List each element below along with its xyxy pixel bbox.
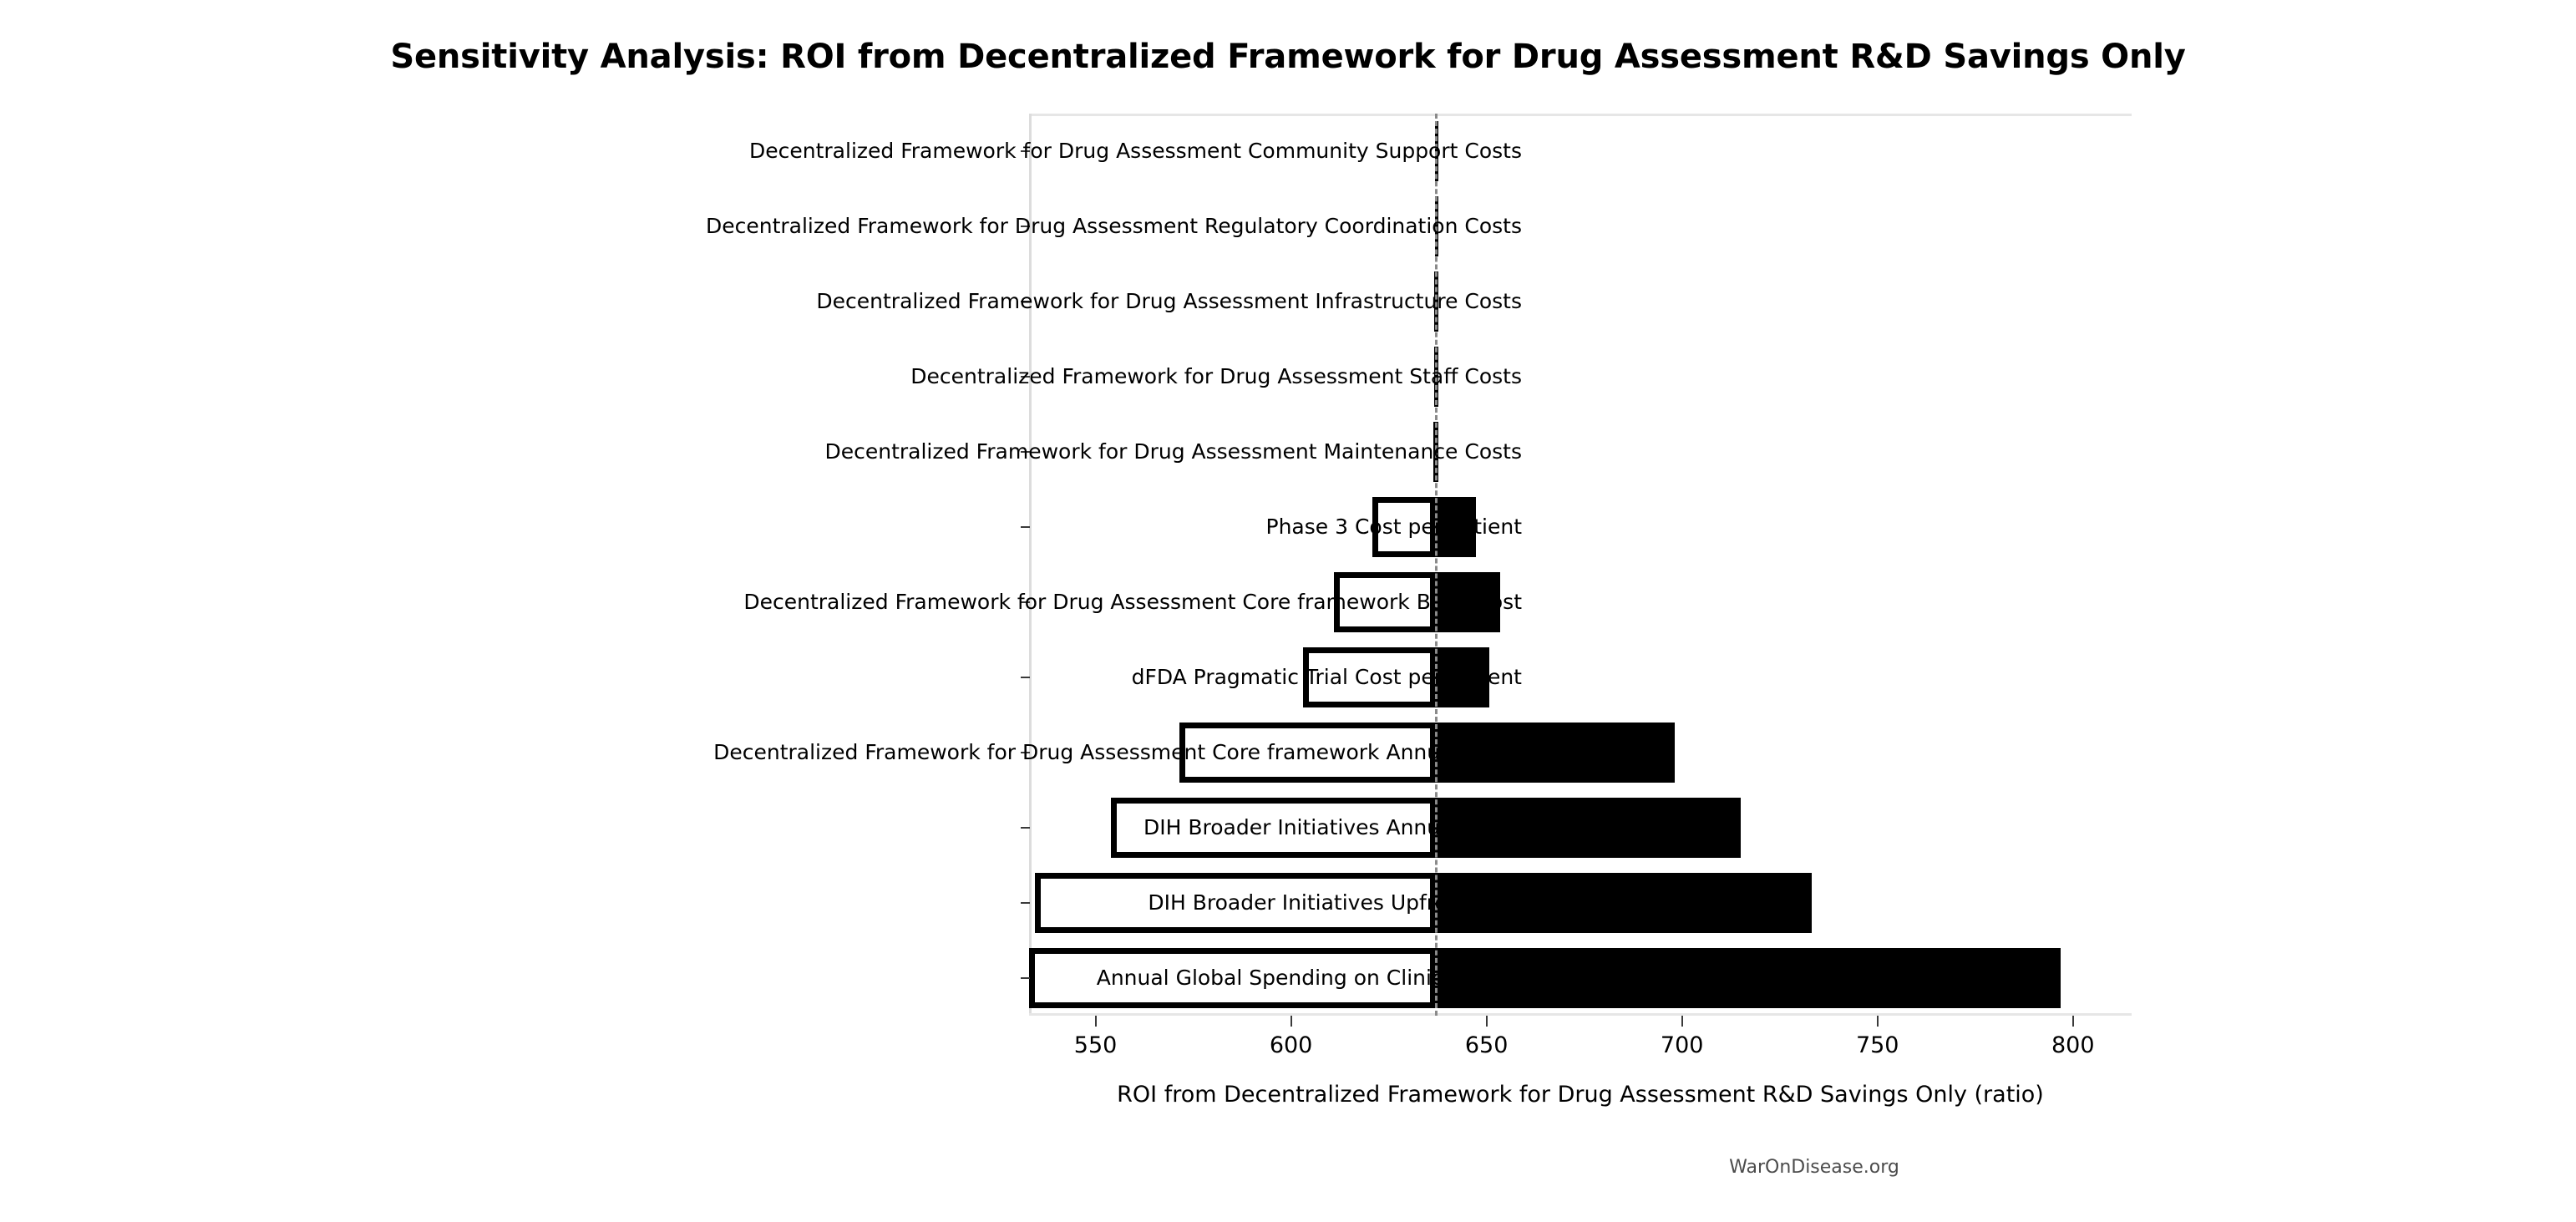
y-tick-mark <box>1021 827 1030 829</box>
x-tick-label: 750 <box>1828 1034 1928 1057</box>
plot-bottom-border <box>1029 1013 2132 1016</box>
y-tick-mark <box>1021 677 1030 678</box>
y-tick-label: Decentralized Framework for Drug Assessm… <box>749 140 1522 161</box>
chart-title: Sensitivity Analysis: ROI from Decentral… <box>0 38 2576 75</box>
x-axis-label: ROI from Decentralized Framework for Dru… <box>1029 1083 2132 1106</box>
x-tick-label: 650 <box>1437 1034 1537 1057</box>
y-tick-label: DIH Broader Initiatives Annual OPEX <box>1143 817 1522 838</box>
y-tick-label: DIH Broader Initiatives Upfront Cost <box>1148 892 1522 913</box>
x-tick-label: 800 <box>2023 1034 2123 1057</box>
x-tick-mark <box>2072 1016 2074 1027</box>
x-tick-mark <box>1095 1016 1097 1027</box>
y-tick-label: Decentralized Framework for Drug Assessm… <box>816 291 1522 312</box>
x-tick-mark <box>1877 1016 1879 1027</box>
plot-top-border <box>1029 114 2132 116</box>
y-tick-label: Decentralized Framework for Drug Assessm… <box>706 215 1522 236</box>
y-tick-label: Decentralized Framework for Drug Assessm… <box>743 591 1522 612</box>
y-tick-label: Decentralized Framework for Drug Assessm… <box>824 441 1522 462</box>
y-tick-mark <box>1021 902 1030 904</box>
y-tick-label: Decentralized Framework for Drug Assessm… <box>910 366 1522 387</box>
baseline-reference-line <box>1435 114 1438 1016</box>
y-tick-label: dFDA Pragmatic Trial Cost per Patient <box>1132 667 1522 687</box>
x-tick-mark <box>1291 1016 1292 1027</box>
x-tick-label: 550 <box>1046 1034 1146 1057</box>
y-tick-mark <box>1021 977 1030 979</box>
bar-segment-high <box>1436 948 2061 1008</box>
x-tick-label: 600 <box>1241 1034 1341 1057</box>
x-tick-label: 700 <box>1632 1034 1732 1057</box>
y-tick-label: Annual Global Spending on Clinical Trial… <box>1097 967 1522 988</box>
footer-credit: WarOnDisease.org <box>1580 1157 2048 1178</box>
sensitivity-tornado-chart: Sensitivity Analysis: ROI from Decentral… <box>0 0 2576 1222</box>
y-tick-label: Decentralized Framework for Drug Assessm… <box>713 742 1522 763</box>
y-tick-mark <box>1021 526 1030 528</box>
x-tick-mark <box>1681 1016 1683 1027</box>
y-tick-label: Phase 3 Cost per Patient <box>1266 516 1523 537</box>
x-tick-mark <box>1486 1016 1488 1027</box>
